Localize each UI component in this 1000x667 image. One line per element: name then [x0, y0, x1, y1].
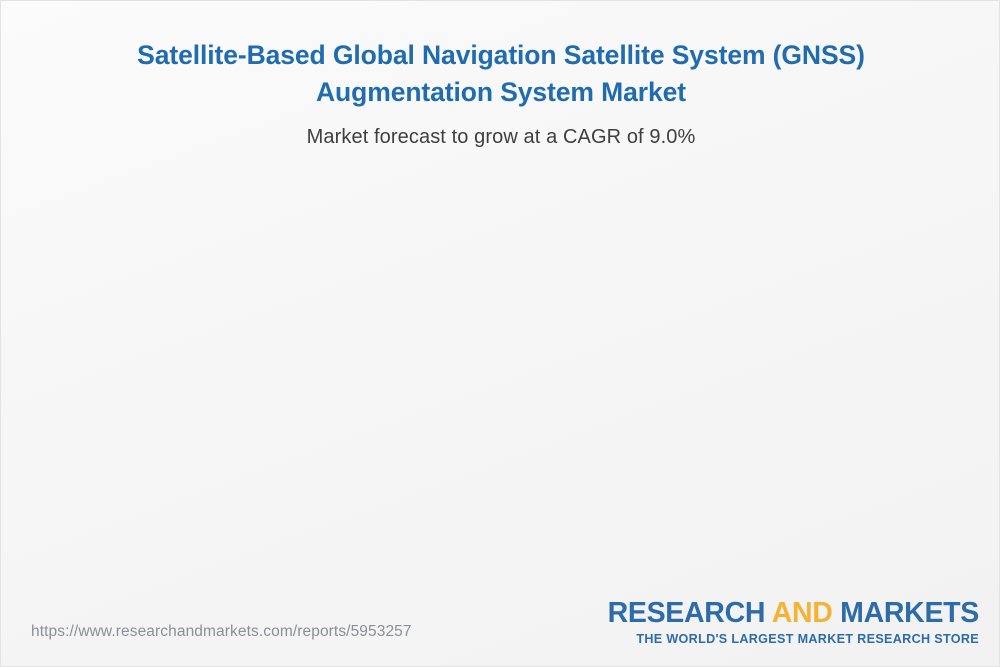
brand-name-research: RESEARCH	[608, 597, 772, 629]
brand-name-and: AND	[772, 597, 833, 629]
brand-name: RESEARCH AND MARKETS	[608, 599, 979, 628]
brand-name-markets: MARKETS	[833, 597, 979, 629]
brand-tagline: THE WORLD'S LARGEST MARKET RESEARCH STOR…	[608, 633, 979, 646]
brand-logo: RESEARCH AND MARKETS THE WORLD'S LARGEST…	[608, 599, 979, 645]
plot-area: USD 14.47 Billion 2026 USD 20.43 Billion	[1, 1, 1000, 667]
report-url[interactable]: https://www.researchandmarkets.com/repor…	[31, 623, 412, 641]
chart-canvas: Satellite-Based Global Navigation Satell…	[0, 0, 1000, 667]
